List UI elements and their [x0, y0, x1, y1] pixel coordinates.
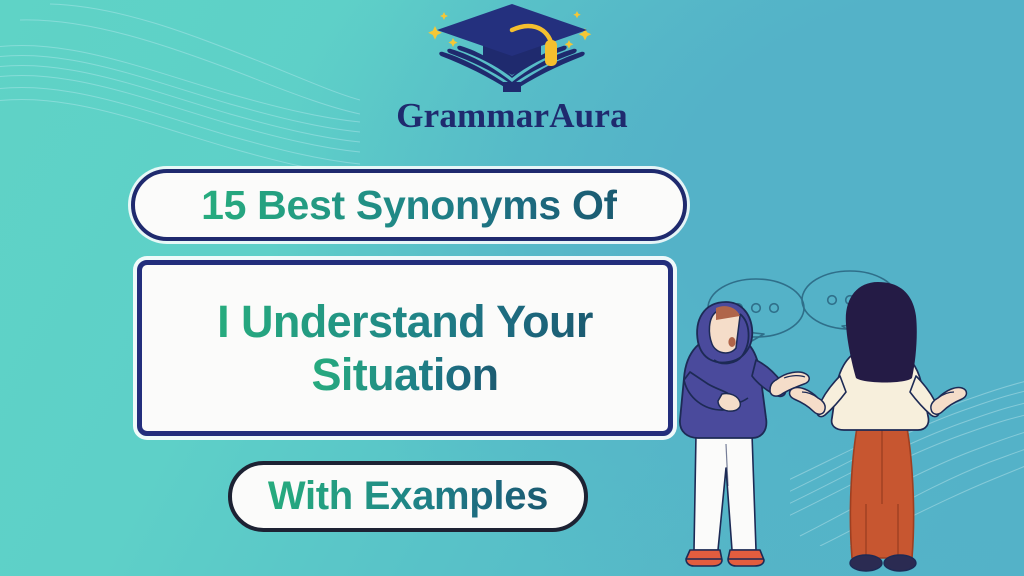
brand-logo-block: GrammarAura [0, 2, 1024, 133]
two-people-conversation-illustration [660, 268, 1024, 576]
headline-pill: 15 Best Synonyms Of [131, 169, 687, 241]
headline-text: 15 Best Synonyms Of [201, 182, 617, 229]
person-in-skirt [790, 282, 967, 571]
main-title-line-1: I Understand Your [217, 295, 593, 348]
footer-pill: With Examples [228, 461, 588, 532]
main-title-box: I Understand Your Situation [137, 260, 673, 436]
person-in-hoodie [680, 302, 809, 566]
footer-text: With Examples [268, 474, 548, 519]
main-title-line-2: Situation [311, 348, 498, 401]
mouth [728, 337, 735, 347]
brand-name: GrammarAura [396, 98, 628, 133]
graduation-cap-book-logo [417, 2, 607, 94]
poster-canvas: GrammarAura 15 Best Synonyms Of I Unders… [0, 0, 1024, 576]
tassel [545, 40, 557, 66]
